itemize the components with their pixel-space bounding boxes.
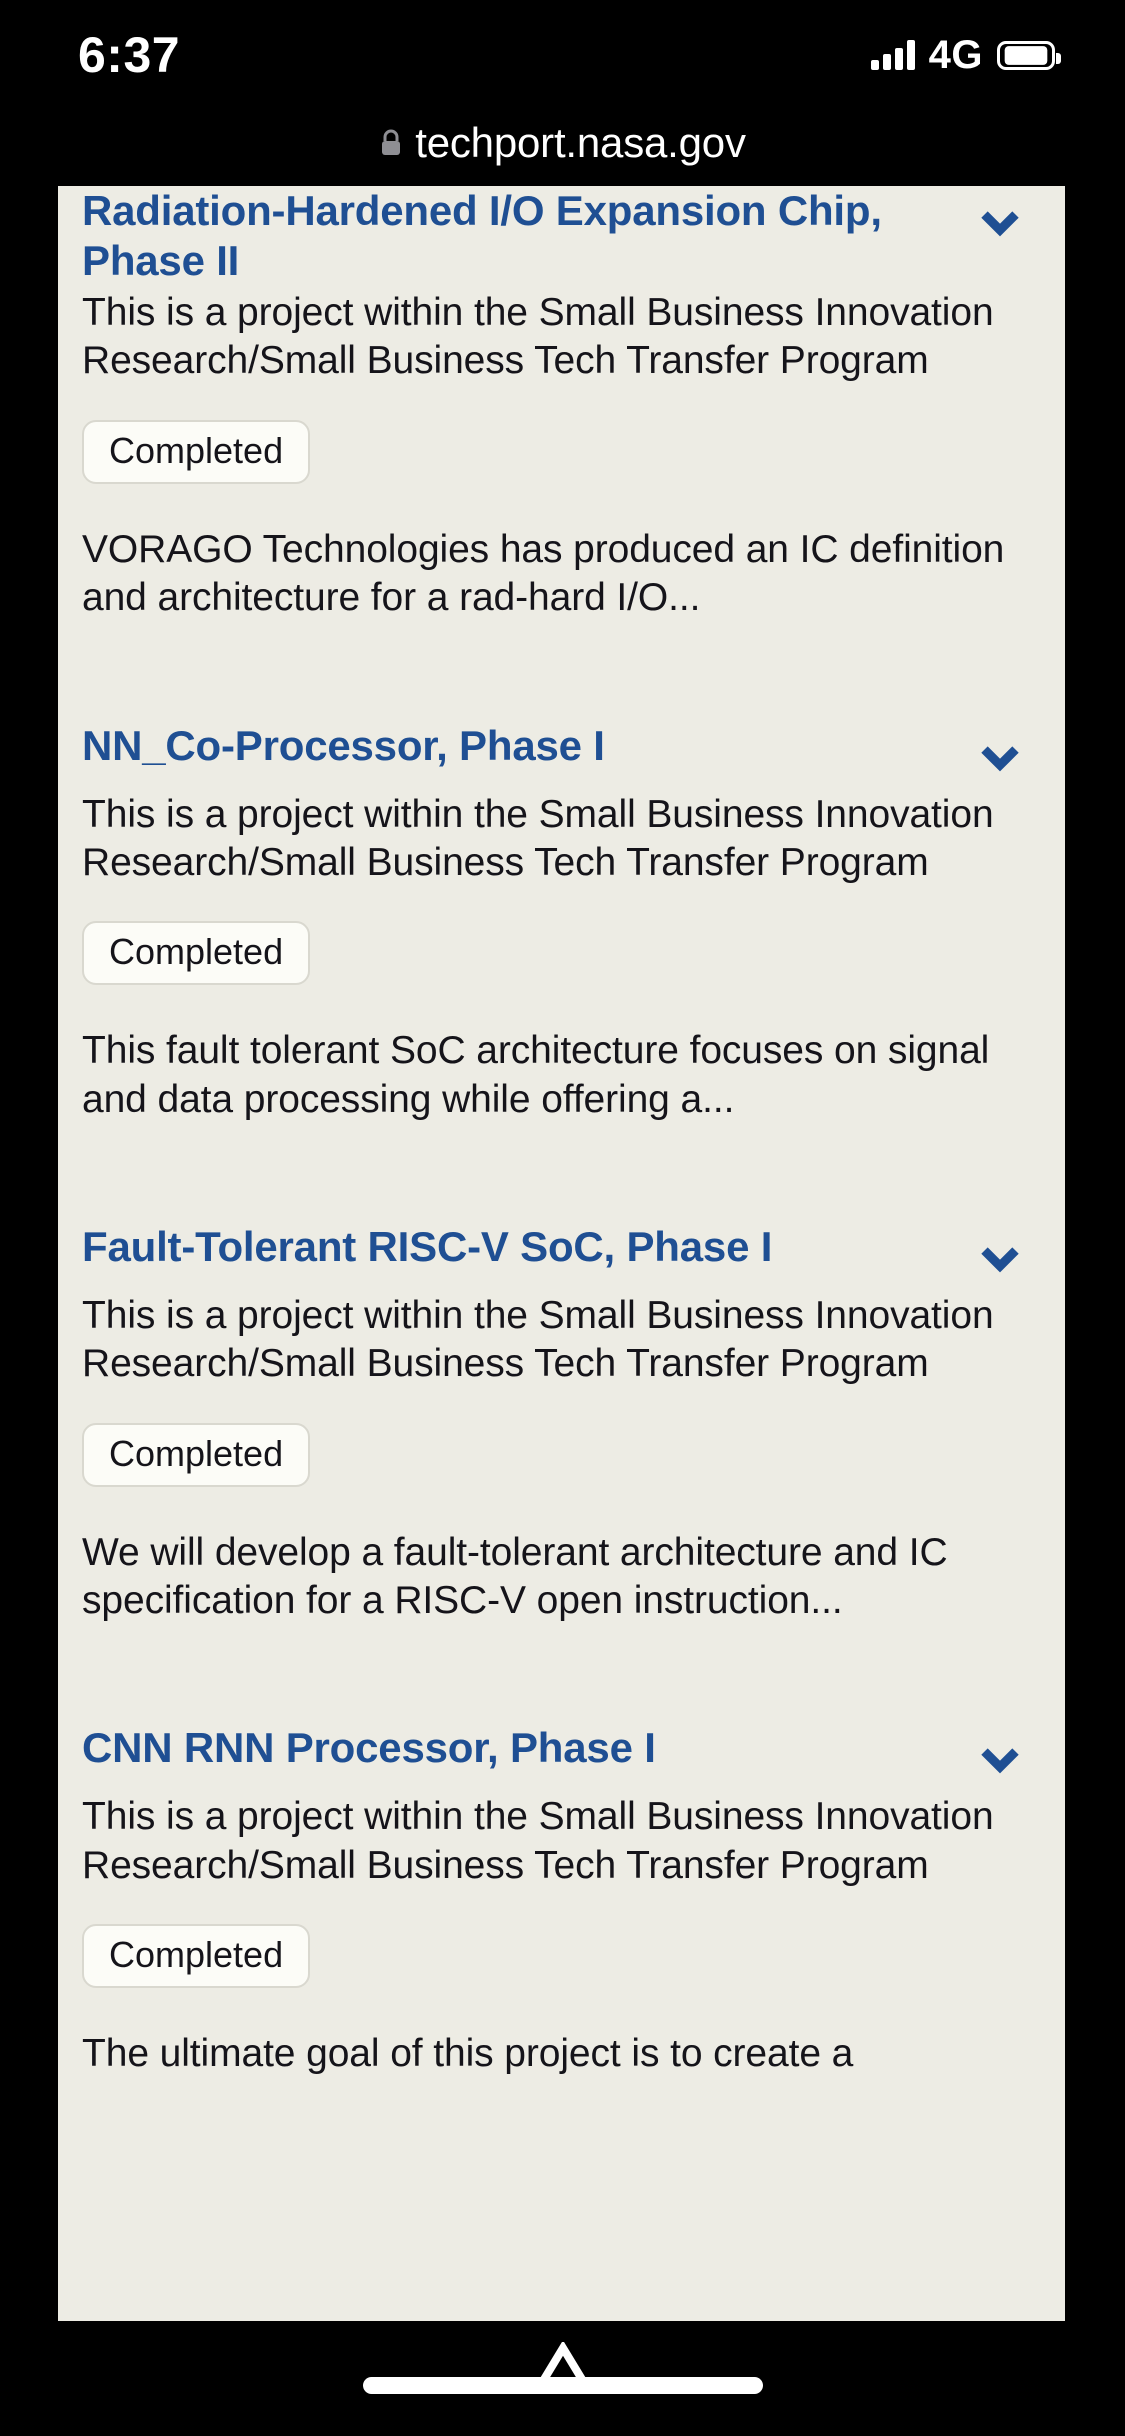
project-card[interactable]: Radiation-Hardened I/O Expansion Chip, P… [58,186,1065,623]
chevron-down-icon[interactable] [969,725,1031,787]
chevron-down-icon[interactable] [969,190,1031,252]
url-text: techport.nasa.gov [415,119,746,167]
webpage-viewport[interactable]: Radiation-Hardened I/O Expansion Chip, P… [58,186,1065,2321]
project-program: This is a project within the Small Busin… [82,289,1031,386]
status-badge: Completed [82,420,310,484]
status-badge: Completed [82,921,310,985]
project-title[interactable]: CNN RNN Processor, Phase I [82,1723,949,1773]
project-summary: We will develop a fault-tolerant archite… [82,1529,1031,1626]
card-header[interactable]: CNN RNN Processor, Phase I [82,1723,1031,1789]
project-title[interactable]: NN_Co-Processor, Phase I [82,721,949,771]
battery-icon [997,41,1055,70]
chevron-up-icon [528,2342,598,2388]
status-badge: Completed [82,1423,310,1487]
signal-bars-icon [871,40,915,70]
chevron-down-icon[interactable] [969,1727,1031,1789]
home-indicator-area [0,2321,1125,2436]
browser-url-bar[interactable]: techport.nasa.gov [0,110,1125,176]
card-divider-space [58,1625,1065,1723]
project-card[interactable]: CNN RNN Processor, Phase I This is a pro… [58,1723,1065,2078]
card-divider-space [58,1124,1065,1222]
project-summary: This fault tolerant SoC architecture foc… [82,1027,1031,1124]
project-summary: VORAGO Technologies has produced an IC d… [82,526,1031,623]
card-header[interactable]: Fault-Tolerant RISC-V SoC, Phase I [82,1222,1031,1288]
card-header[interactable]: NN_Co-Processor, Phase I [82,721,1031,787]
status-indicators: 4G [871,33,1055,78]
project-card[interactable]: Fault-Tolerant RISC-V SoC, Phase I This … [58,1222,1065,1625]
phone-screen: 6:37 4G techport.nasa.gov Radiation-Hard… [0,0,1125,2436]
network-type-label: 4G [929,33,983,78]
project-title[interactable]: Fault-Tolerant RISC-V SoC, Phase I [82,1222,949,1272]
chevron-down-icon[interactable] [969,1226,1031,1288]
status-bar: 6:37 4G [0,0,1125,110]
project-program: This is a project within the Small Busin… [82,791,1031,888]
project-program: This is a project within the Small Busin… [82,1292,1031,1389]
project-title[interactable]: Radiation-Hardened I/O Expansion Chip, P… [82,186,949,285]
project-program: This is a project within the Small Busin… [82,1793,1031,1890]
project-list: Radiation-Hardened I/O Expansion Chip, P… [58,186,1065,2078]
project-summary: The ultimate goal of this project is to … [82,2030,1031,2078]
card-header[interactable]: Radiation-Hardened I/O Expansion Chip, P… [82,186,1031,285]
project-card[interactable]: NN_Co-Processor, Phase I This is a proje… [58,721,1065,1124]
card-divider-space [58,623,1065,721]
lock-icon [379,129,403,157]
status-time: 6:37 [78,26,180,84]
status-badge: Completed [82,1924,310,1988]
